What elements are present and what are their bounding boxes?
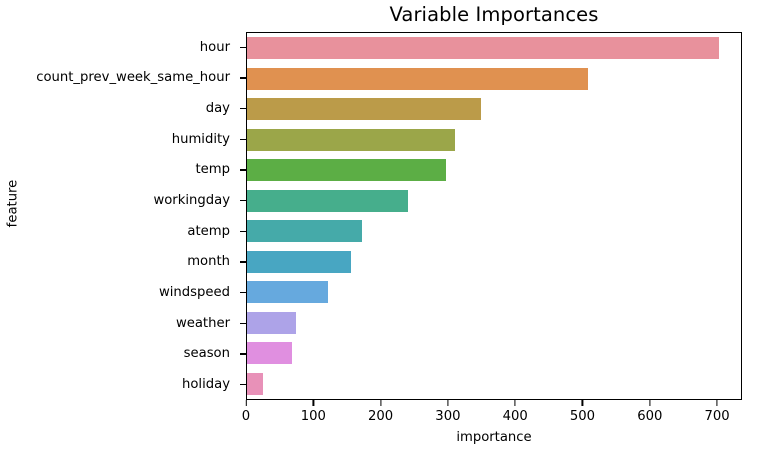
tick-mark [447, 400, 448, 406]
bar-day [247, 98, 481, 120]
y-tick-label-day: day [0, 93, 238, 124]
y-tick-label-windspeed: windspeed [0, 277, 238, 308]
y-tick-label-month: month [0, 247, 238, 278]
y-tick-label-count_prev_week_same_hour: count_prev_week_same_hour [0, 63, 238, 94]
tick-mark [649, 400, 650, 406]
y-tick-label-humidity: humidity [0, 124, 238, 155]
tick-text: 300 [435, 409, 460, 424]
x-axis-tick-labels: 0100200300400500600700 [246, 400, 742, 430]
bar-weather [247, 312, 296, 334]
bar-temp [247, 159, 446, 181]
tick-text: 600 [637, 409, 662, 424]
bar-row [247, 64, 741, 95]
bar-hour [247, 37, 719, 59]
x-tick-200: 200 [368, 400, 393, 424]
tick-mark [515, 400, 516, 406]
x-axis-label: importance [246, 430, 742, 445]
y-tick-label-hour: hour [0, 32, 238, 63]
tick-text: 500 [570, 409, 595, 424]
bar-row [247, 94, 741, 125]
x-tick-0: 0 [242, 400, 250, 424]
y-tick-label-holiday: holiday [0, 369, 238, 400]
tick-text: 400 [503, 409, 528, 424]
y-tick-label-season: season [0, 339, 238, 370]
y-axis-tick-labels: hourcount_prev_week_same_hourdayhumidity… [0, 32, 238, 400]
bar-row [247, 186, 741, 217]
y-tick-label-temp: temp [0, 155, 238, 186]
tick-mark [716, 400, 717, 406]
bar-row [247, 369, 741, 400]
x-tick-700: 700 [705, 400, 730, 424]
y-tick-label-weather: weather [0, 308, 238, 339]
plot-area [246, 32, 742, 400]
tick-text: 0 [242, 409, 250, 424]
tick-text: 700 [705, 409, 730, 424]
y-tick-label-atemp: atemp [0, 216, 238, 247]
x-tick-600: 600 [637, 400, 662, 424]
x-tick-300: 300 [435, 400, 460, 424]
tick-text: 200 [368, 409, 393, 424]
bar-count_prev_week_same_hour [247, 68, 588, 90]
x-tick-500: 500 [570, 400, 595, 424]
bar-row [247, 155, 741, 186]
bar-month [247, 251, 351, 273]
x-tick-100: 100 [301, 400, 326, 424]
bar-row [247, 338, 741, 369]
bar-season [247, 342, 292, 364]
bar-row [247, 247, 741, 278]
tick-mark [380, 400, 381, 406]
bar-series [247, 33, 741, 399]
tick-text: 100 [301, 409, 326, 424]
chart-title: Variable Importances [246, 3, 742, 26]
tick-mark [313, 400, 314, 406]
bar-holiday [247, 373, 263, 395]
bar-humidity [247, 129, 455, 151]
chart-figure: Variable Importances feature hourcount_p… [0, 0, 779, 456]
bar-workingday [247, 190, 408, 212]
bar-row [247, 125, 741, 156]
bar-atemp [247, 220, 362, 242]
bar-windspeed [247, 281, 328, 303]
bar-row [247, 216, 741, 247]
bar-row [247, 308, 741, 339]
tick-mark [582, 400, 583, 406]
x-tick-400: 400 [503, 400, 528, 424]
bar-row [247, 277, 741, 308]
tick-mark [245, 400, 246, 406]
bar-row [247, 33, 741, 64]
y-tick-label-workingday: workingday [0, 185, 238, 216]
